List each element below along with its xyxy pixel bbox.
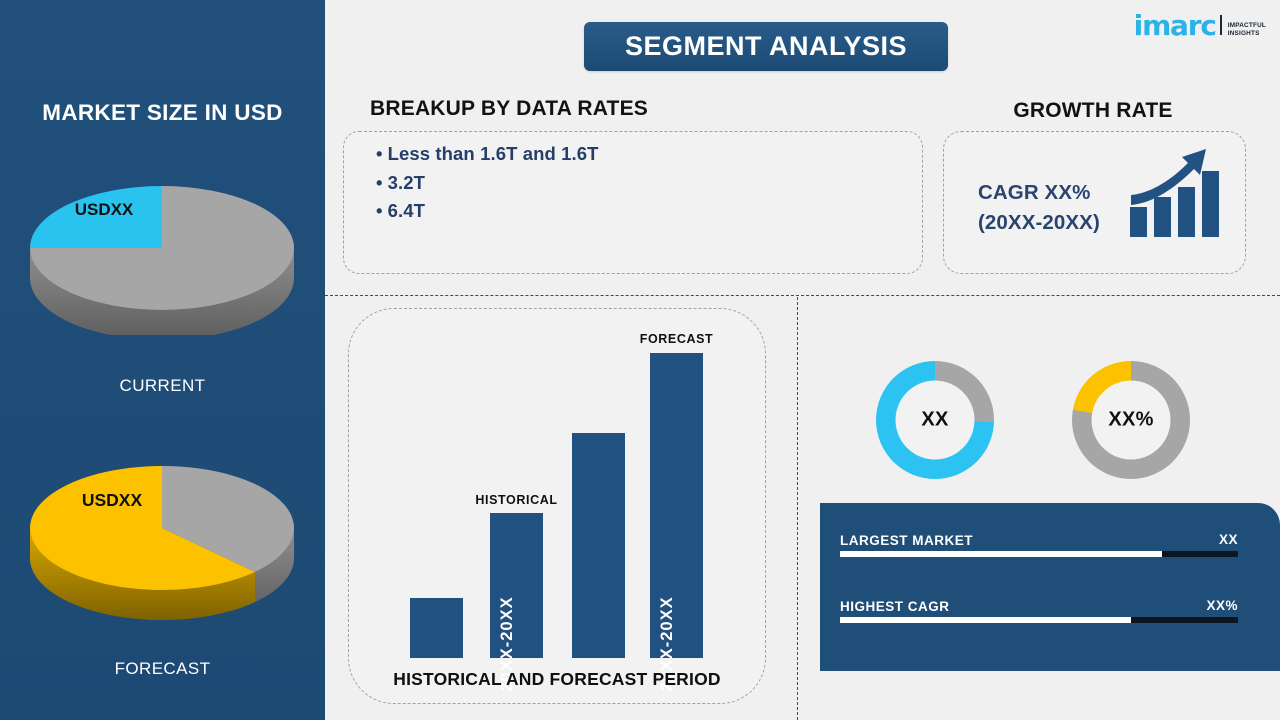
vertical-divider [797,297,798,720]
cagr-text: CAGR XX% (20XX-20XX) [978,178,1138,238]
logo-divider [1220,15,1222,35]
bullet-dot: • [376,172,383,193]
list-item: •3.2T [376,169,896,198]
stat-progress-fill [840,617,1131,623]
bar-chart-axis-label: HISTORICAL AND FORECAST PERIOD [348,669,766,690]
horizontal-divider [325,295,1280,296]
highest-cagr-donut: XX% [1072,361,1190,479]
list-item: •Less than 1.6T and 1.6T [376,140,896,169]
stat-row-highest-cagr: HIGHEST CAGR XX% [840,597,1238,623]
bar-annotation-historical: HISTORICAL [475,493,557,507]
list-item-label: 6.4T [388,200,425,221]
current-pie-caption: CURRENT [0,376,325,396]
bar-1 [410,598,463,658]
breakup-heading: BREAKUP BY DATA RATES [370,97,648,121]
list-item-label: Less than 1.6T and 1.6T [388,143,599,164]
bar-4: FORECAST 20XX-20XX [650,353,703,658]
stat-label: HIGHEST CAGR [840,599,950,614]
imarc-logo: imarc IMPACTFUL INSIGHTS [1134,14,1266,38]
stat-value: XX [1219,532,1238,547]
bullet-dot: • [376,200,383,221]
stat-row-largest-market: LARGEST MARKET XX [840,531,1238,557]
donut-hole: XX [896,381,975,460]
largest-market-donut: XX [876,361,994,479]
list-item-label: 3.2T [388,172,425,193]
list-item: •6.4T [376,197,896,226]
highest-cagr-donut-value: XX% [1108,409,1153,432]
forecast-pie-caption: FORECAST [0,659,325,679]
cagr-line-2: (20XX-20XX) [978,208,1138,238]
logo-tagline-line2: INSIGHTS [1228,30,1266,38]
stat-progress-fill [840,551,1162,557]
page-title: SEGMENT ANALYSIS [625,31,907,62]
current-pie-chart: USDXX [0,160,325,335]
stat-value: XX% [1206,598,1238,613]
logo-wordmark: imarc [1134,14,1216,38]
stat-progress-track [840,551,1238,557]
logo-tagline-line1: IMPACTFUL [1228,22,1266,30]
current-pie-value: USDXX [75,200,134,219]
current-pie-group: USDXX CURRENT [0,160,325,396]
market-stats-panel: LARGEST MARKET XX HIGHEST CAGR XX% [820,503,1280,671]
cagr-line-1: CAGR XX% [978,178,1138,208]
stat-progress-track [840,617,1238,623]
bar-3 [572,433,625,658]
donut-hole: XX% [1092,381,1171,460]
historical-forecast-bar-chart: HISTORICAL 20XX-20XX FORECAST 20XX-20XX … [348,308,766,704]
stat-label: LARGEST MARKET [840,533,973,548]
bullet-dot: • [376,143,383,164]
largest-market-donut-value: XX [921,409,948,432]
forecast-pie-chart: USDXX [0,452,325,627]
forecast-pie-group: USDXX FORECAST [0,452,325,679]
growth-rate-heading: GROWTH RATE [943,99,1243,123]
page-title-badge: SEGMENT ANALYSIS [584,22,948,71]
market-size-sidebar: MARKET SIZE IN USD USDXX CURRENT [0,0,325,720]
growth-bars-arrow-icon [1128,145,1233,245]
breakup-list: •Less than 1.6T and 1.6T •3.2T •6.4T [376,140,896,226]
sidebar-title: MARKET SIZE IN USD [0,100,325,126]
bar-2: HISTORICAL 20XX-20XX [490,513,543,658]
logo-tagline: IMPACTFUL INSIGHTS [1228,22,1266,38]
forecast-pie-value: USDXX [82,490,143,510]
bar-annotation-forecast: FORECAST [640,332,714,346]
